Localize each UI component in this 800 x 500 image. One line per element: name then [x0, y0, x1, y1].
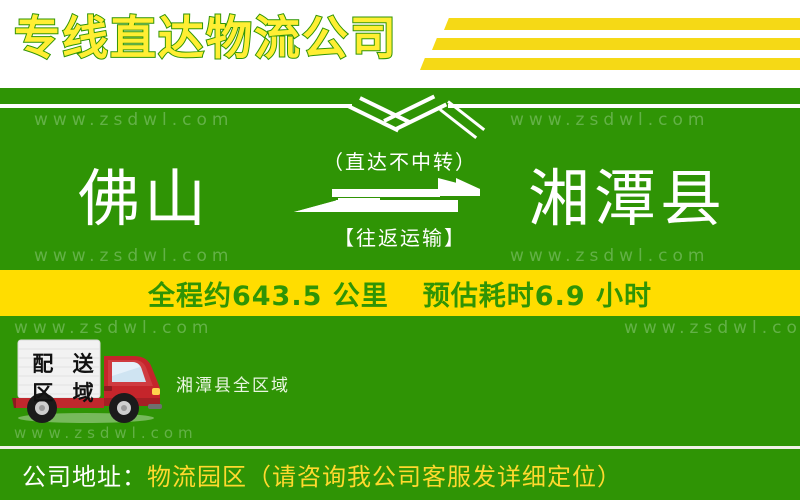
route-note-bottom: 【往返运输】 [300, 222, 500, 251]
stripe-1 [444, 18, 800, 30]
bidirectional-arrow-icon [288, 176, 514, 220]
route-note-top: （直达不中转） [300, 146, 500, 175]
decorative-stripes [418, 14, 800, 76]
coverage-text: 湘潭县全区域 [176, 371, 290, 396]
watermark: www.zsdwl.com [624, 318, 800, 338]
truck-box-label: 配 送 区 域 [22, 350, 110, 408]
origin-city: 佛山 [78, 168, 210, 230]
truck-box-label-line1: 配 送 [22, 350, 110, 379]
divider-left-segment [0, 104, 352, 108]
watermark: www.zsdwl.com [510, 246, 709, 266]
watermark: www.zsdwl.com [34, 110, 233, 130]
trip-info-bar: 全程约643.5 公里 预估耗时6.9 小时 [0, 270, 800, 316]
page-title: 专线直达物流公司 [14, 8, 398, 68]
stripe-3 [420, 58, 800, 70]
stripe-2 [432, 38, 800, 50]
watermark: www.zsdwl.com [14, 318, 213, 338]
divider-right-segment [448, 104, 800, 108]
truck-box-label-line2: 区 域 [22, 379, 110, 408]
chevron-down-icon [383, 95, 435, 123]
destination-city: 湘潭县 [528, 168, 726, 230]
address-label: 公司地址： [22, 457, 147, 492]
duration-text: 预估耗时6.9 小时 [423, 274, 652, 313]
distance-text: 全程约643.5 公里 [148, 274, 389, 313]
address-value: 物流园区（请咨询我公司客服发详细定位） [147, 457, 622, 492]
header-band: 专线直达物流公司 [0, 0, 800, 88]
footer-address: 公司地址： 物流园区（请咨询我公司客服发详细定位） [0, 449, 800, 500]
watermark: www.zsdwl.com [14, 424, 198, 442]
main-green-panel: www.zsdwl.com www.zsdwl.com 佛山 湘潭县 （直达不中… [0, 88, 800, 500]
watermark: www.zsdwl.com [510, 110, 709, 130]
watermark: www.zsdwl.com [34, 246, 233, 266]
slash-accent-icon [439, 108, 477, 139]
logistics-banner: 专线直达物流公司 www.zsdwl.com www.zsdwl.com 佛山 … [0, 0, 800, 500]
